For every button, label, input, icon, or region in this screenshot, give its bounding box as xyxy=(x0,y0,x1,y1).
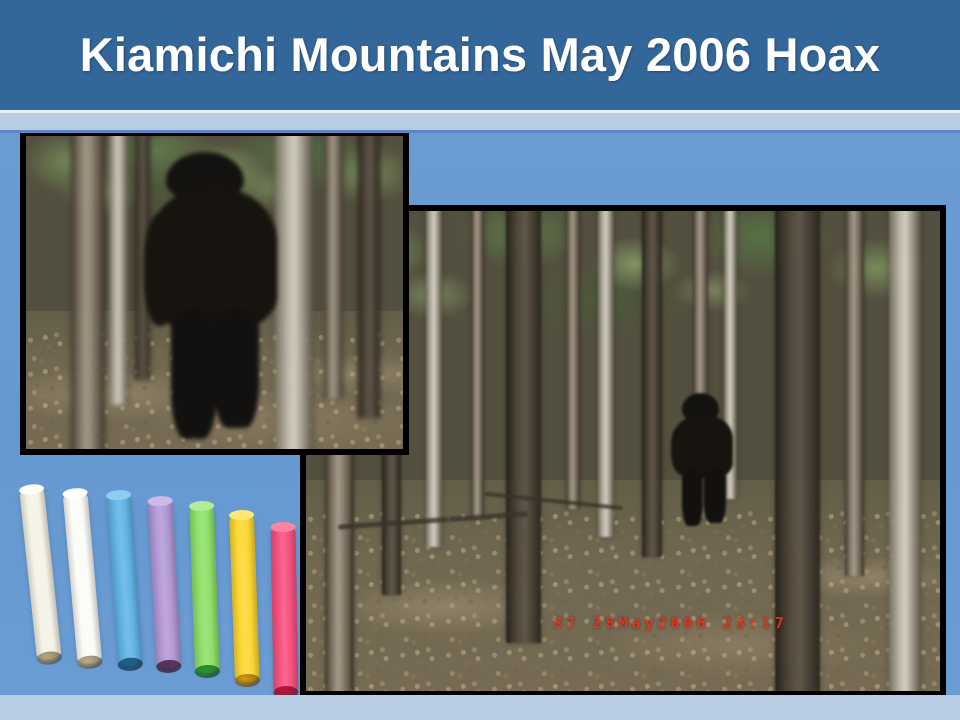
bipedal-figure xyxy=(147,152,283,434)
chalk-stick-purple-tip xyxy=(156,659,182,673)
page-title: Kiamichi Mountains May 2006 Hoax xyxy=(0,27,960,83)
tree-trunk xyxy=(71,130,105,455)
tree-trunk xyxy=(889,205,921,697)
figure-leg-left xyxy=(682,469,704,526)
tree-trunk xyxy=(471,205,484,518)
tree-trunk xyxy=(566,205,580,509)
chalk-stick-purple xyxy=(148,499,182,668)
slide: Kiamichi Mountains May 2006 Hoax xyxy=(0,0,960,720)
chalk-stick-yellow-top xyxy=(229,510,254,521)
chalk-stick-blue-tip xyxy=(117,657,143,672)
chalk-stick-white-tip xyxy=(77,655,103,670)
chalk-stick-white-top xyxy=(62,487,88,499)
photo-timestamp: 37 28May2006 23:17 xyxy=(553,614,788,632)
chalk-stick-pink xyxy=(271,526,299,694)
chalk-stick-green-tip xyxy=(195,665,220,679)
chalk-stick-yellow xyxy=(229,514,260,683)
chalk-sticks-decoration xyxy=(26,480,316,695)
chalk-stick-blue-top xyxy=(106,489,132,501)
chalk-stick-cream xyxy=(19,487,62,661)
chalk-stick-purple-top xyxy=(147,495,172,506)
tree-trunk xyxy=(642,205,662,557)
chalk-stick-blue xyxy=(106,493,143,666)
tree-trunk xyxy=(109,130,128,405)
chalk-stick-green xyxy=(189,505,220,674)
chalk-stick-cream-tip xyxy=(36,650,62,666)
figure-leg-right xyxy=(704,469,726,523)
chalk-stick-pink-top xyxy=(270,522,295,532)
tree-trunk xyxy=(598,205,614,537)
tree-trunk xyxy=(845,205,864,576)
tree-trunk xyxy=(506,205,541,643)
footer-band xyxy=(0,695,960,720)
inset-photo-scene xyxy=(26,136,403,449)
chalk-stick-yellow-tip xyxy=(235,674,260,688)
figure-leg-left xyxy=(171,309,217,439)
tree-trunk xyxy=(426,205,441,547)
figure-arm xyxy=(671,427,686,471)
header-accent-band xyxy=(0,113,960,130)
tree-trunk xyxy=(324,130,343,399)
chalk-stick-green-top xyxy=(189,501,214,512)
header-underline xyxy=(0,130,960,133)
inset-photo xyxy=(20,130,409,455)
tree-trunk xyxy=(358,130,381,418)
bipedal-figure xyxy=(671,393,741,523)
figure-leg-right xyxy=(214,309,259,427)
chalk-stick-white xyxy=(63,491,103,665)
figure-arm xyxy=(144,214,177,327)
